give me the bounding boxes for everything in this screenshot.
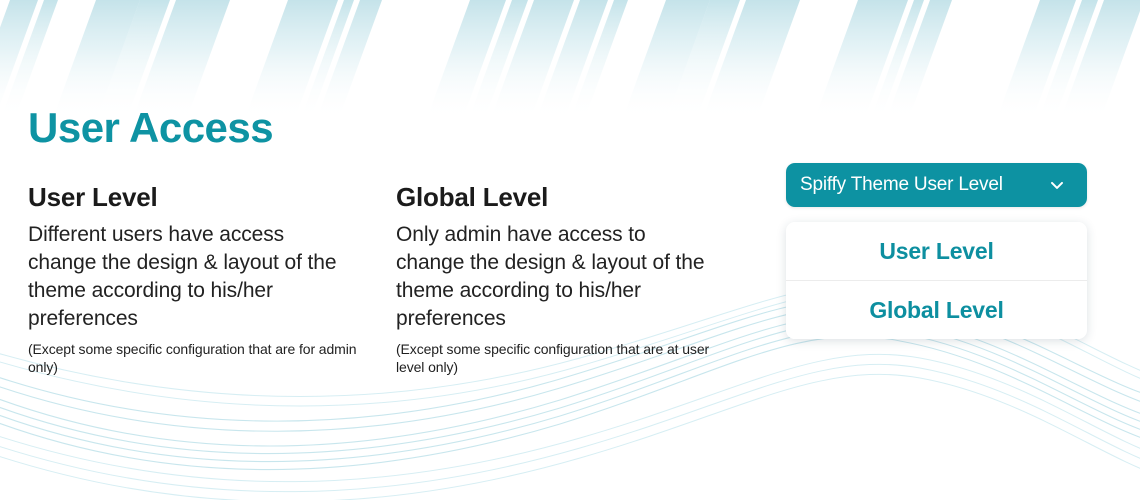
column-note-global-level: (Except some specific configuration that… [396, 340, 726, 376]
dropdown-toggle-button[interactable]: Spiffy Theme User Level [786, 163, 1087, 207]
page-title: User Access [28, 106, 273, 150]
column-heading-user-level: User Level [28, 183, 368, 213]
column-note-user-level: (Except some specific configuration that… [28, 340, 358, 376]
column-body-global-level: Only admin have access to change the des… [396, 221, 716, 333]
column-body-user-level: Different users have access change the d… [28, 221, 348, 333]
dropdown-menu: User Level Global Level [786, 222, 1087, 339]
dropdown-item-global-level[interactable]: Global Level [786, 280, 1087, 339]
column-global-level: Global Level Only admin have access to c… [396, 183, 736, 376]
chevron-down-icon [1047, 175, 1067, 195]
dropdown-item-user-level[interactable]: User Level [786, 222, 1087, 280]
column-heading-global-level: Global Level [396, 183, 736, 213]
slide-content: User Access User Level Different users h… [0, 0, 1140, 500]
column-user-level: User Level Different users have access c… [28, 183, 368, 376]
dropdown-toggle-label: Spiffy Theme User Level [800, 174, 1047, 196]
theme-user-level-dropdown: Spiffy Theme User Level User Level Globa… [786, 163, 1087, 339]
